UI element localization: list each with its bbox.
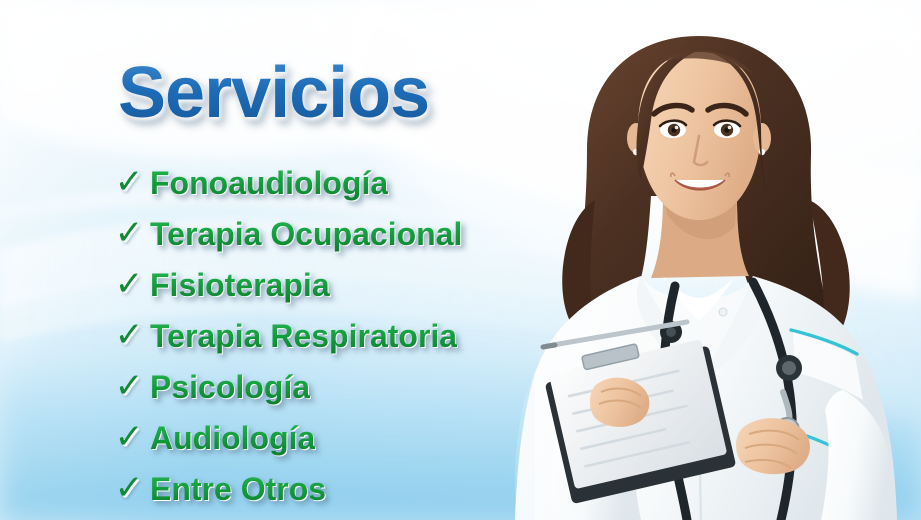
check-icon: ✓ — [108, 420, 150, 454]
service-label: Fonoaudiología — [150, 165, 388, 202]
doctor-photo — [491, 0, 921, 520]
service-label: Fisioterapia — [150, 267, 330, 304]
service-label: Audiología — [150, 420, 315, 457]
service-label: Psicología — [150, 369, 310, 406]
check-icon: ✓ — [108, 471, 150, 505]
service-label: Terapia Respiratoria — [150, 318, 457, 355]
check-icon: ✓ — [108, 369, 150, 403]
services-banner: Servicios ✓ Fonoaudiología ✓ Terapia Ocu… — [0, 0, 921, 520]
service-label: Entre Otros — [150, 471, 326, 508]
check-icon: ✓ — [108, 318, 150, 352]
check-icon: ✓ — [108, 165, 150, 199]
page-title: Servicios — [118, 52, 429, 134]
check-icon: ✓ — [108, 216, 150, 250]
service-label: Terapia Ocupacional — [150, 216, 462, 253]
check-icon: ✓ — [108, 267, 150, 301]
